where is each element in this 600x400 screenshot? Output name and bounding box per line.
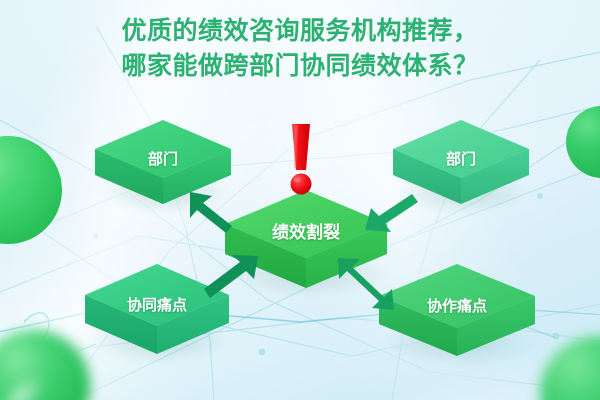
infographic-canvas: 优质的绩效咨询服务机构推荐， 哪家能做跨部门协同绩效体系？ 部门 — [0, 0, 600, 400]
decorative-sphere-bottom-right — [540, 336, 600, 400]
node-center-label: 绩效割裂 — [222, 218, 390, 243]
node-top-left: 部门 — [92, 118, 234, 210]
node-center: 绩效割裂 — [222, 188, 390, 294]
node-bottom-left-label: 协同痛点 — [82, 294, 232, 315]
node-top-left-label: 部门 — [92, 148, 234, 169]
node-top-right-label: 部门 — [390, 148, 532, 169]
node-bottom-right: 协作痛点 — [376, 262, 538, 362]
headline: 优质的绩效咨询服务机构推荐， 哪家能做跨部门协同绩效体系？ — [0, 14, 600, 84]
headline-line-1: 优质的绩效咨询服务机构推荐， — [0, 14, 600, 49]
node-bottom-left: 协同痛点 — [82, 262, 232, 360]
decorative-sphere-bottom-left — [0, 330, 90, 400]
exclamation-mark-icon — [281, 122, 321, 196]
decorative-sphere-left — [0, 136, 62, 244]
headline-line-2: 哪家能做跨部门协同绩效体系？ — [0, 49, 600, 84]
node-bottom-right-label: 协作痛点 — [376, 295, 538, 316]
node-top-right: 部门 — [390, 118, 532, 210]
decorative-sphere-right — [566, 106, 600, 178]
